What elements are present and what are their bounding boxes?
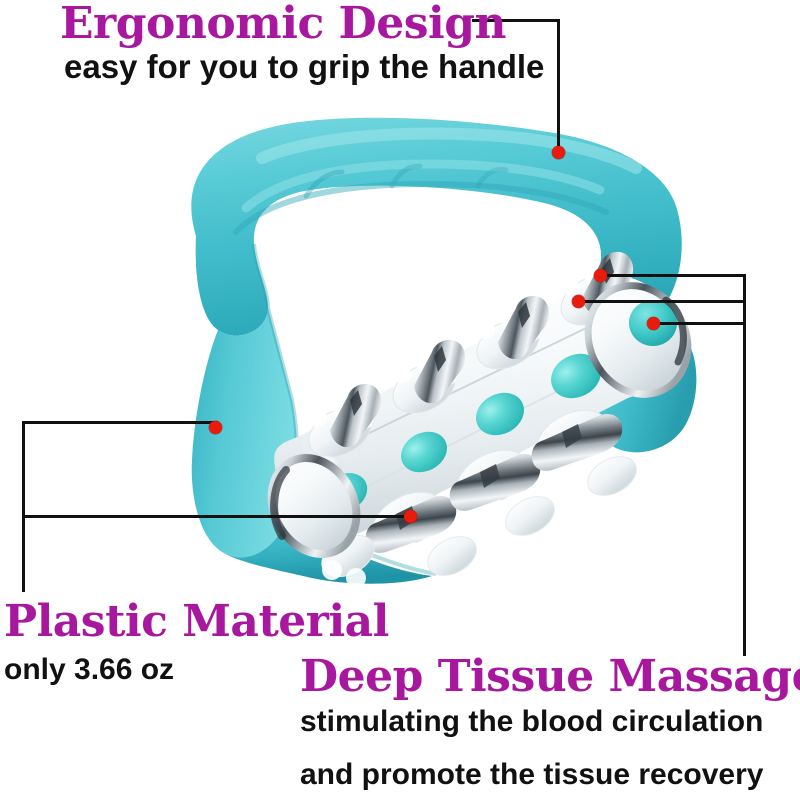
chrome-stud: [330, 252, 633, 447]
handle-left-post: [192, 308, 297, 557]
callout-dot-deep-stud: [572, 295, 585, 308]
handle-finger-notch-3: [478, 170, 506, 186]
heading-ergonomic-design: Ergonomic Design: [60, 2, 506, 46]
roller-end-cap-right: [569, 268, 706, 412]
subtext-ergonomic-design: easy for you to grip the handle: [64, 50, 544, 83]
infographic-canvas: Ergonomic Design easy for you to grip th…: [0, 0, 800, 800]
callout-dot-deep-endcap: [647, 317, 660, 330]
handle-right-post: [587, 306, 696, 452]
callout-line-plastic-branch-upper: [22, 421, 218, 424]
callout-dot-deep-nub: [594, 269, 607, 282]
handle-finger-notch-2: [392, 166, 420, 186]
nub-base: [301, 397, 380, 467]
callout-dot-plastic-roller: [404, 510, 417, 523]
stud-row-upper: [301, 252, 634, 467]
callout-line-plastic-branch-lower: [22, 515, 412, 518]
heading-plastic-material: Plastic Material: [4, 600, 389, 644]
end-cap-chrome-shadow: [666, 300, 683, 362]
teal-dot: [318, 466, 374, 518]
subtext-deep-tissue-line-1: stimulating the blood circulation: [300, 707, 763, 737]
handle-gloss-highlight: [262, 134, 636, 168]
callout-line-ergonomic-vertical: [557, 19, 560, 153]
teal-dot: [543, 345, 609, 406]
handle-inner-shadow: [254, 244, 436, 574]
handle-ridge-highlight-1: [246, 164, 600, 208]
callout-line-deep-branch-1: [604, 274, 746, 277]
callout-dot-plastic-handle: [209, 421, 222, 434]
roller-end-cap-left: [255, 443, 373, 569]
teal-dot-row: [318, 345, 609, 518]
callout-line-plastic-vertical: [22, 422, 25, 592]
subtext-deep-tissue-line-2: and promote the tissue recovery: [300, 760, 763, 790]
stud-row-lower: [363, 399, 622, 559]
roller-cylinder-back: [274, 276, 670, 509]
roller-seam-line-lower: [316, 352, 636, 512]
callout-line-deep-vertical: [743, 274, 746, 656]
subtext-plastic-material: only 3.66 oz: [4, 655, 174, 685]
handle-ridge-groove-1: [236, 184, 606, 232]
handle-bottom-connector: [222, 516, 432, 584]
nub-base: [469, 309, 548, 379]
chrome-roller-pin: [366, 414, 623, 553]
roller-cylinder-front: [301, 288, 671, 535]
callout-line-deep-branch-3: [657, 322, 746, 325]
teal-dot: [394, 424, 454, 480]
nub-base: [385, 353, 464, 423]
heading-deep-tissue-massage: Deep Tissue Massage: [300, 655, 800, 699]
handle-finger-notch-1: [306, 172, 342, 196]
callout-line-deep-branch-2: [582, 300, 746, 303]
roller-seam-line: [330, 302, 640, 452]
teal-dot: [469, 385, 532, 444]
callout-dot-ergonomic: [552, 146, 565, 159]
